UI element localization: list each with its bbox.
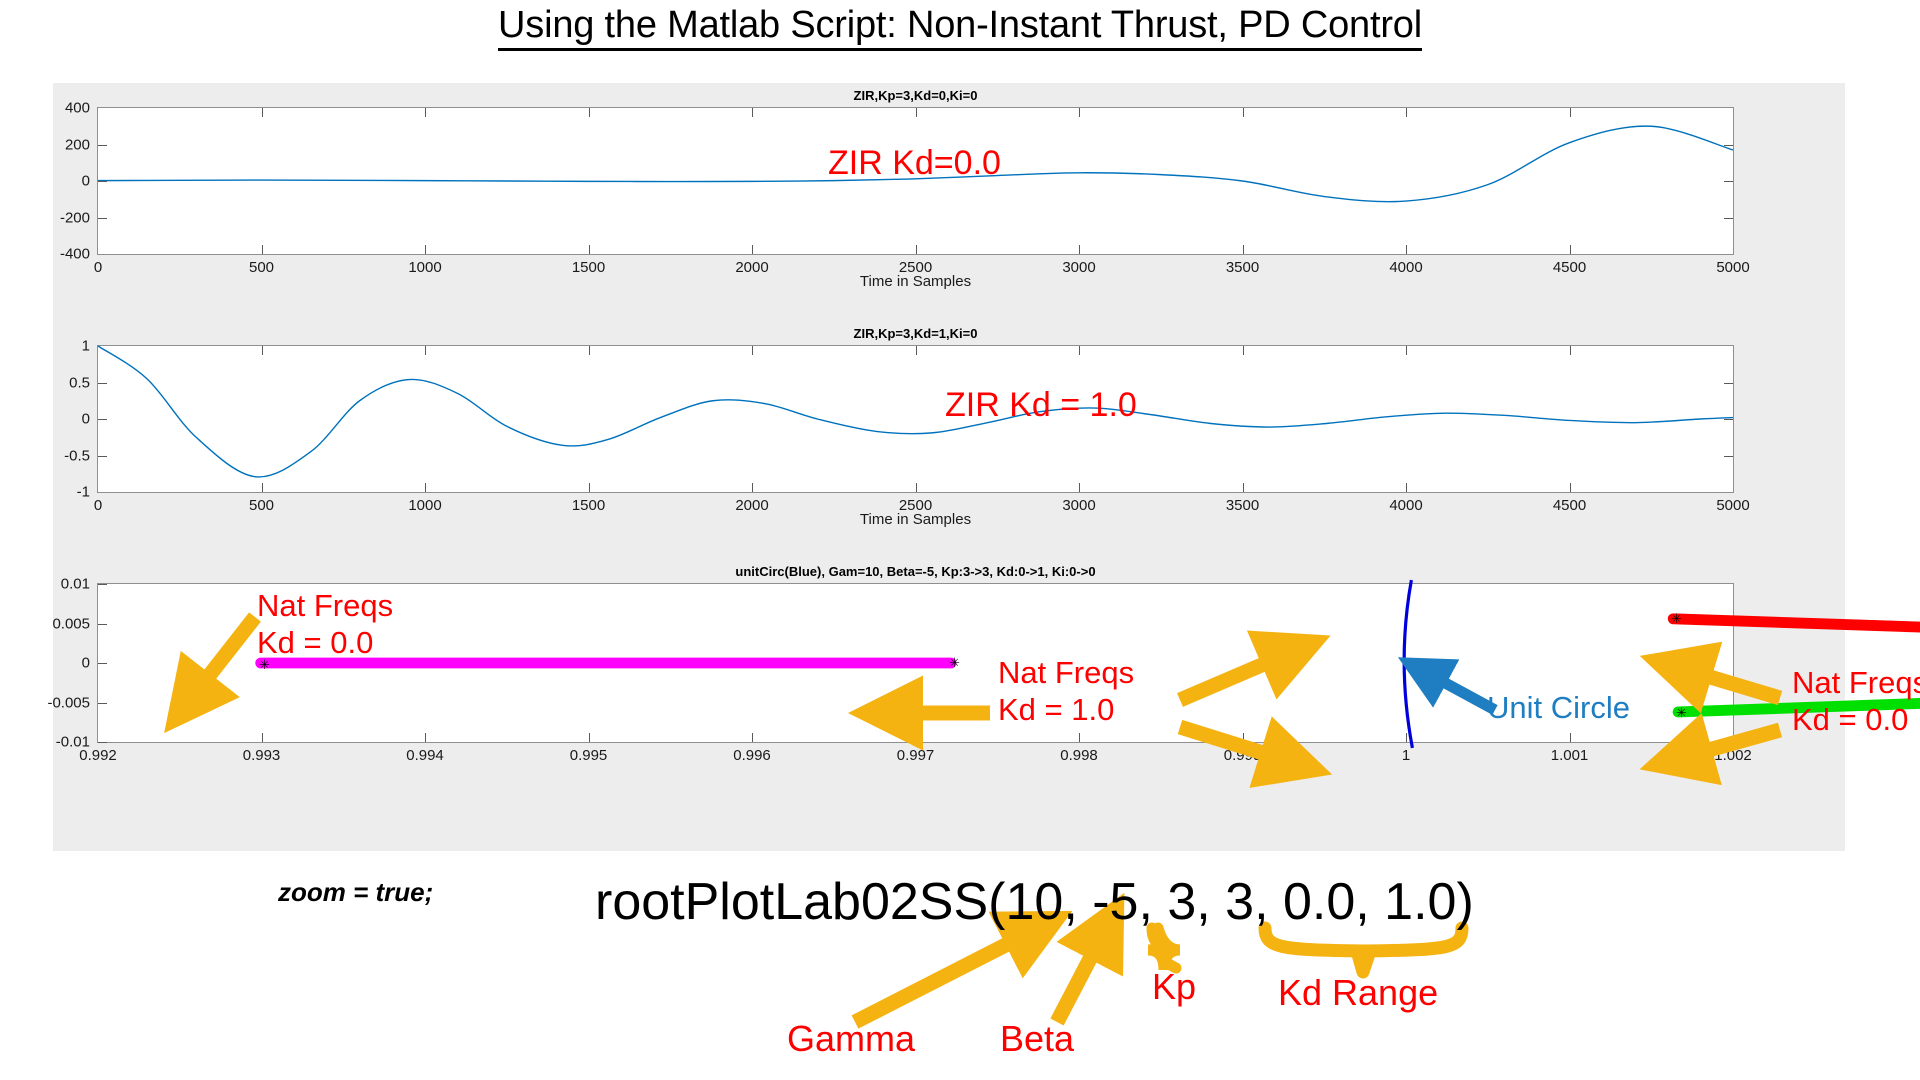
brace-kp-shape xyxy=(1152,928,1176,968)
pole-marker: ✳ xyxy=(1676,708,1685,717)
annotation-unit-circle: Unit Circle xyxy=(1487,690,1630,726)
label-kd-range: Kd Range xyxy=(1278,972,1438,1014)
label-beta: Beta xyxy=(1000,1018,1074,1060)
x-tick-label: 2000 xyxy=(735,497,768,514)
page-title-text: Using the Matlab Script: Non-Instant Thr… xyxy=(498,4,1422,51)
y-tick-label: 400 xyxy=(65,100,90,117)
y-tick-label: -200 xyxy=(60,209,90,226)
x-tick-label: 3500 xyxy=(1226,259,1259,276)
x-tick-label: 2500 xyxy=(899,497,932,514)
annotation-natfreq-kd1: Nat Freqs Kd = 1.0 xyxy=(998,655,1134,728)
x-tick-label: 500 xyxy=(249,259,274,276)
annotation-zir-kd0: ZIR Kd=0.0 xyxy=(828,143,1001,183)
x-tick-label: 3000 xyxy=(1062,259,1095,276)
brace-kd-range-tip xyxy=(1357,951,1370,972)
pole-marker: ✳ xyxy=(949,658,958,667)
annotation-zir-kd1: ZIR Kd = 1.0 xyxy=(945,385,1137,425)
plot-title: unitCirc(Blue), Gam=10, Beta=-5, Kp:3->3… xyxy=(98,564,1733,579)
y-tick-label: 0 xyxy=(82,173,90,190)
x-tick-label: 1 xyxy=(1402,747,1410,764)
x-tick-label: 0.997 xyxy=(897,747,935,764)
plot-zir-kd1: ZIR,Kp=3,Kd=1,Ki=0 Time in Samples 1 0.5… xyxy=(97,345,1734,493)
y-tick-label: 0.01 xyxy=(61,576,90,593)
y-tick-label: 0.5 xyxy=(69,374,90,391)
y-tick-label: -400 xyxy=(60,246,90,263)
x-tick-label: 1500 xyxy=(572,259,605,276)
matlab-figure-panel: ZIR,Kp=3,Kd=0,Ki=0 Time in Samples 400 2… xyxy=(53,83,1845,851)
arrow-gamma xyxy=(855,930,1035,1022)
page-title: Using the Matlab Script: Non-Instant Thr… xyxy=(0,4,1920,47)
x-tick-label: 0.993 xyxy=(243,747,281,764)
x-tick-label: 0.994 xyxy=(406,747,444,764)
annotation-natfreq-kd0-right: Nat Freqs Kd = 0.0 xyxy=(1792,665,1920,738)
pole-marker: ✳ xyxy=(1671,614,1680,623)
x-tick-label: 4500 xyxy=(1553,497,1586,514)
unit-circle-arc xyxy=(1404,580,1412,748)
locus-red xyxy=(1673,619,1920,636)
plot-title: ZIR,Kp=3,Kd=1,Ki=0 xyxy=(98,326,1733,341)
y-tick-label: 0.005 xyxy=(52,615,90,632)
x-tick-label: 1500 xyxy=(572,497,605,514)
x-tick-label: 0.996 xyxy=(733,747,771,764)
x-tick-label: 4000 xyxy=(1389,259,1422,276)
pole-marker: ✳ xyxy=(259,660,268,669)
x-tick-label: 0.992 xyxy=(79,747,117,764)
arrow-beta xyxy=(1057,930,1105,1022)
x-tick-label: 4000 xyxy=(1389,497,1422,514)
plot-curve xyxy=(98,346,1733,492)
x-tick-label: 1000 xyxy=(408,259,441,276)
label-kp: Kp xyxy=(1152,966,1196,1008)
function-call-text: rootPlotLab02SS(10, -5, 3, 3, 0.0, 1.0) xyxy=(595,872,1474,932)
x-tick-label: 0.998 xyxy=(1060,747,1098,764)
x-tick-label: 0 xyxy=(94,259,102,276)
y-tick-label: 0 xyxy=(82,655,90,672)
x-tick-label: 0.995 xyxy=(570,747,608,764)
x-tick-label: 3500 xyxy=(1226,497,1259,514)
x-tick-label: 500 xyxy=(249,497,274,514)
x-tick-label: 0.999 xyxy=(1224,747,1262,764)
y-tick-label: -0.5 xyxy=(64,447,90,464)
x-tick-label: 1.001 xyxy=(1551,747,1589,764)
y-tick-label: -1 xyxy=(77,484,90,501)
label-gamma: Gamma xyxy=(787,1018,915,1060)
y-tick-label: -0.005 xyxy=(47,694,90,711)
x-tick-label: 1.002 xyxy=(1714,747,1752,764)
x-tick-label: 4500 xyxy=(1553,259,1586,276)
x-tick-label: 3000 xyxy=(1062,497,1095,514)
x-tick-label: 5000 xyxy=(1716,259,1749,276)
plot-title: ZIR,Kp=3,Kd=0,Ki=0 xyxy=(98,88,1733,103)
y-tick-label: 1 xyxy=(82,338,90,355)
brace-kp xyxy=(1148,928,1180,970)
x-tick-label: 5000 xyxy=(1716,497,1749,514)
zoom-flag-text: zoom = true; xyxy=(278,877,433,908)
annotation-natfreq-kd0-left: Nat Freqs Kd = 0.0 xyxy=(257,588,393,661)
y-tick-label: 0 xyxy=(82,411,90,428)
x-tick-label: 0 xyxy=(94,497,102,514)
x-tick-label: 2500 xyxy=(899,259,932,276)
x-tick-label: 1000 xyxy=(408,497,441,514)
x-tick-label: 2000 xyxy=(735,259,768,276)
y-tick-label: 200 xyxy=(65,136,90,153)
